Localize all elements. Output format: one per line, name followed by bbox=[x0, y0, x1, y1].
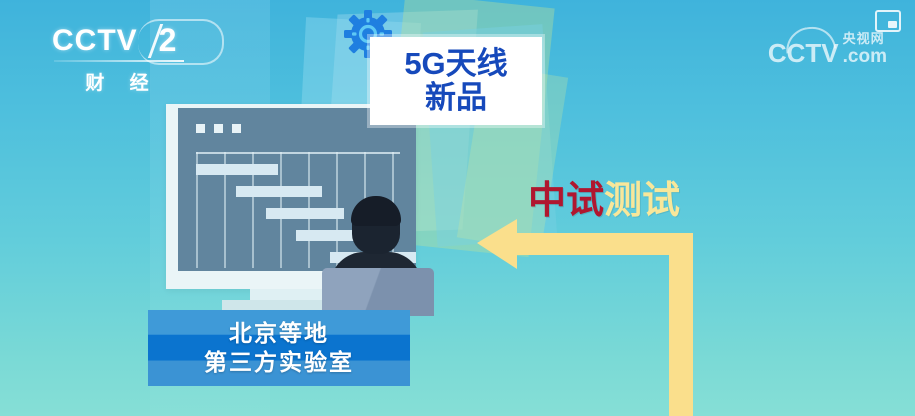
location-banner-line2: 第三方实验室 bbox=[204, 348, 354, 377]
title-card-line2: 新品 bbox=[425, 82, 487, 115]
flow-stage-label: 中试测试 bbox=[528, 182, 680, 220]
gantt-bar bbox=[236, 186, 322, 197]
site-watermark: CCTV 央视网 .com bbox=[768, 32, 887, 66]
channel-logo-subtitle: 财 经 bbox=[52, 68, 192, 95]
channel-logo-name: CCTV bbox=[52, 24, 138, 58]
gantt-bar bbox=[196, 164, 278, 175]
channel-logo: CCTV 2 财 经 bbox=[52, 22, 222, 94]
title-card: 5G天线 新品 bbox=[370, 37, 542, 125]
channel-logo-capsule bbox=[138, 19, 224, 65]
gantt-bar bbox=[266, 208, 344, 219]
person-chair bbox=[322, 268, 434, 316]
gantt-axis-line bbox=[196, 152, 400, 154]
location-banner-line1: 北京等地 bbox=[229, 319, 329, 348]
broadcast-frame: CCTV 2 财 经 CCTV 央视网 .com bbox=[0, 0, 915, 416]
watermark-cn: 央视网 bbox=[843, 32, 885, 45]
watermark-com: .com bbox=[843, 47, 887, 66]
left-elbow-arrow bbox=[455, 215, 715, 416]
picture-in-picture-icon[interactable] bbox=[875, 10, 901, 32]
location-banner: 北京等地 第三方实验室 bbox=[148, 310, 410, 386]
flow-stage-label-secondary: 测试 bbox=[604, 180, 680, 222]
channel-logo-underline bbox=[54, 60, 184, 62]
title-card-line1: 5G天线 bbox=[404, 48, 507, 81]
flow-stage-label-primary: 中试 bbox=[528, 180, 604, 222]
window-dots-icon bbox=[196, 124, 241, 133]
